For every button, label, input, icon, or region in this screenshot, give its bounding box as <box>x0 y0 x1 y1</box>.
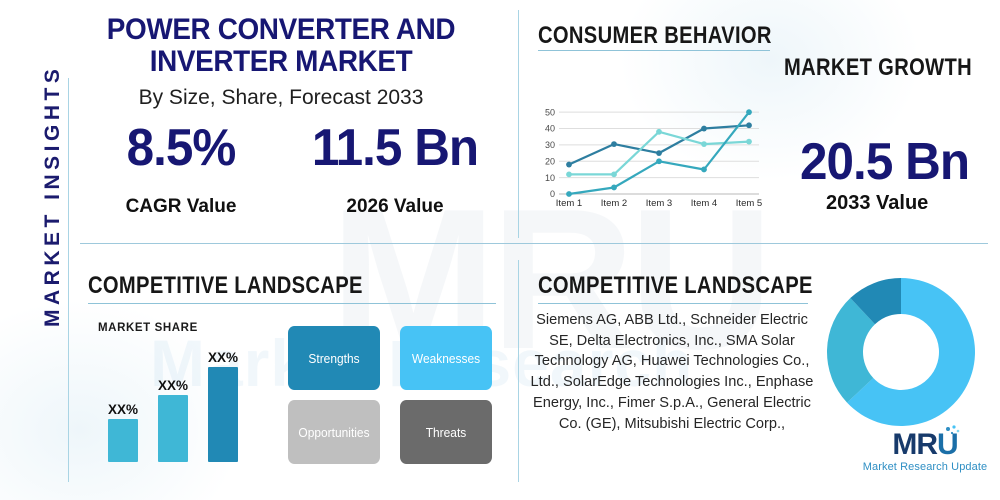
bar-2 <box>158 395 188 462</box>
company-list: Siemens AG, ABB Ltd., Schneider Electric… <box>528 310 816 434</box>
divider-horizontal <box>80 243 988 244</box>
svg-text:Item 5: Item 5 <box>736 198 762 209</box>
side-label-market-insights: MARKET INSIGHTS <box>41 97 65 327</box>
bar-chart-title: MARKET SHARE <box>98 322 198 334</box>
bar-label-1: XX% <box>99 402 147 417</box>
bar-label-3: XX% <box>199 350 247 365</box>
divider-vertical-bottom-middle <box>518 260 519 482</box>
swot-opportunities[interactable]: Opportunities <box>288 400 380 464</box>
svg-text:40: 40 <box>545 124 555 134</box>
svg-text:10: 10 <box>545 173 555 183</box>
logo-mark: MRU <box>892 430 957 460</box>
heading-underline-consumer-behavior <box>538 50 770 51</box>
bar-3 <box>208 367 238 462</box>
market-growth-value: 20.5 Bn <box>800 132 969 192</box>
svg-text:20: 20 <box>545 156 555 166</box>
heading-competitive-landscape-right: COMPETITIVE LANDSCAPE <box>538 272 813 300</box>
line-chart-svg: 01020304050Item 1Item 2Item 3Item 4Item … <box>533 98 765 216</box>
bar-label-2: XX% <box>149 378 197 393</box>
svg-text:Item 4: Item 4 <box>691 198 717 209</box>
svg-text:Item 1: Item 1 <box>556 198 582 209</box>
bar-1 <box>108 419 138 462</box>
infographic-root: MRU Market Research MARKET INSIGHTS POWE… <box>0 0 1000 500</box>
consumer-behavior-line-chart: 01020304050Item 1Item 2Item 3Item 4Item … <box>533 98 765 216</box>
swot-grid: Strengths Weaknesses Opportunities Threa… <box>284 326 500 466</box>
svg-text:50: 50 <box>545 107 555 117</box>
svg-text:Item 3: Item 3 <box>646 198 672 209</box>
bar-chart-bars: XX%XX%XX% <box>98 340 268 462</box>
divider-vertical-left <box>68 78 69 482</box>
heading-underline-competitive-left <box>88 303 496 304</box>
market-share-donut-chart <box>825 276 977 433</box>
brand-logo: MRU Market Research Update <box>858 430 992 473</box>
logo-sparkle-icon <box>944 425 962 441</box>
stat-2026-value: 11.5 Bn <box>295 122 495 174</box>
divider-vertical-top-middle <box>518 10 519 238</box>
page-subtitle: By Size, Share, Forecast 2033 <box>56 86 506 110</box>
heading-market-growth: MARKET GROWTH <box>784 54 972 82</box>
stat-2026-label: 2026 Value <box>290 196 500 218</box>
swot-threats[interactable]: Threats <box>400 400 492 464</box>
svg-text:30: 30 <box>545 140 555 150</box>
page-title: POWER CONVERTER AND INVERTER MARKET <box>72 14 491 78</box>
stat-cagr-value: 8.5% <box>91 122 272 174</box>
swot-strengths[interactable]: Strengths <box>288 326 380 390</box>
market-growth-label: 2033 Value <box>826 192 928 215</box>
market-share-bar-chart: MARKET SHARE XX%XX%XX% <box>98 322 268 462</box>
heading-competitive-landscape-left: COMPETITIVE LANDSCAPE <box>88 272 363 300</box>
donut-chart-svg <box>825 276 977 428</box>
heading-consumer-behavior: CONSUMER BEHAVIOR <box>538 22 772 50</box>
logo-mark-dark: MR <box>892 428 937 461</box>
stat-cagr-label: CAGR Value <box>86 196 276 218</box>
swot-weaknesses[interactable]: Weaknesses <box>400 326 492 390</box>
svg-text:0: 0 <box>550 189 555 199</box>
svg-text:Item 2: Item 2 <box>601 198 627 209</box>
heading-underline-competitive-right <box>538 303 808 304</box>
logo-tagline: Market Research Update <box>858 461 992 473</box>
